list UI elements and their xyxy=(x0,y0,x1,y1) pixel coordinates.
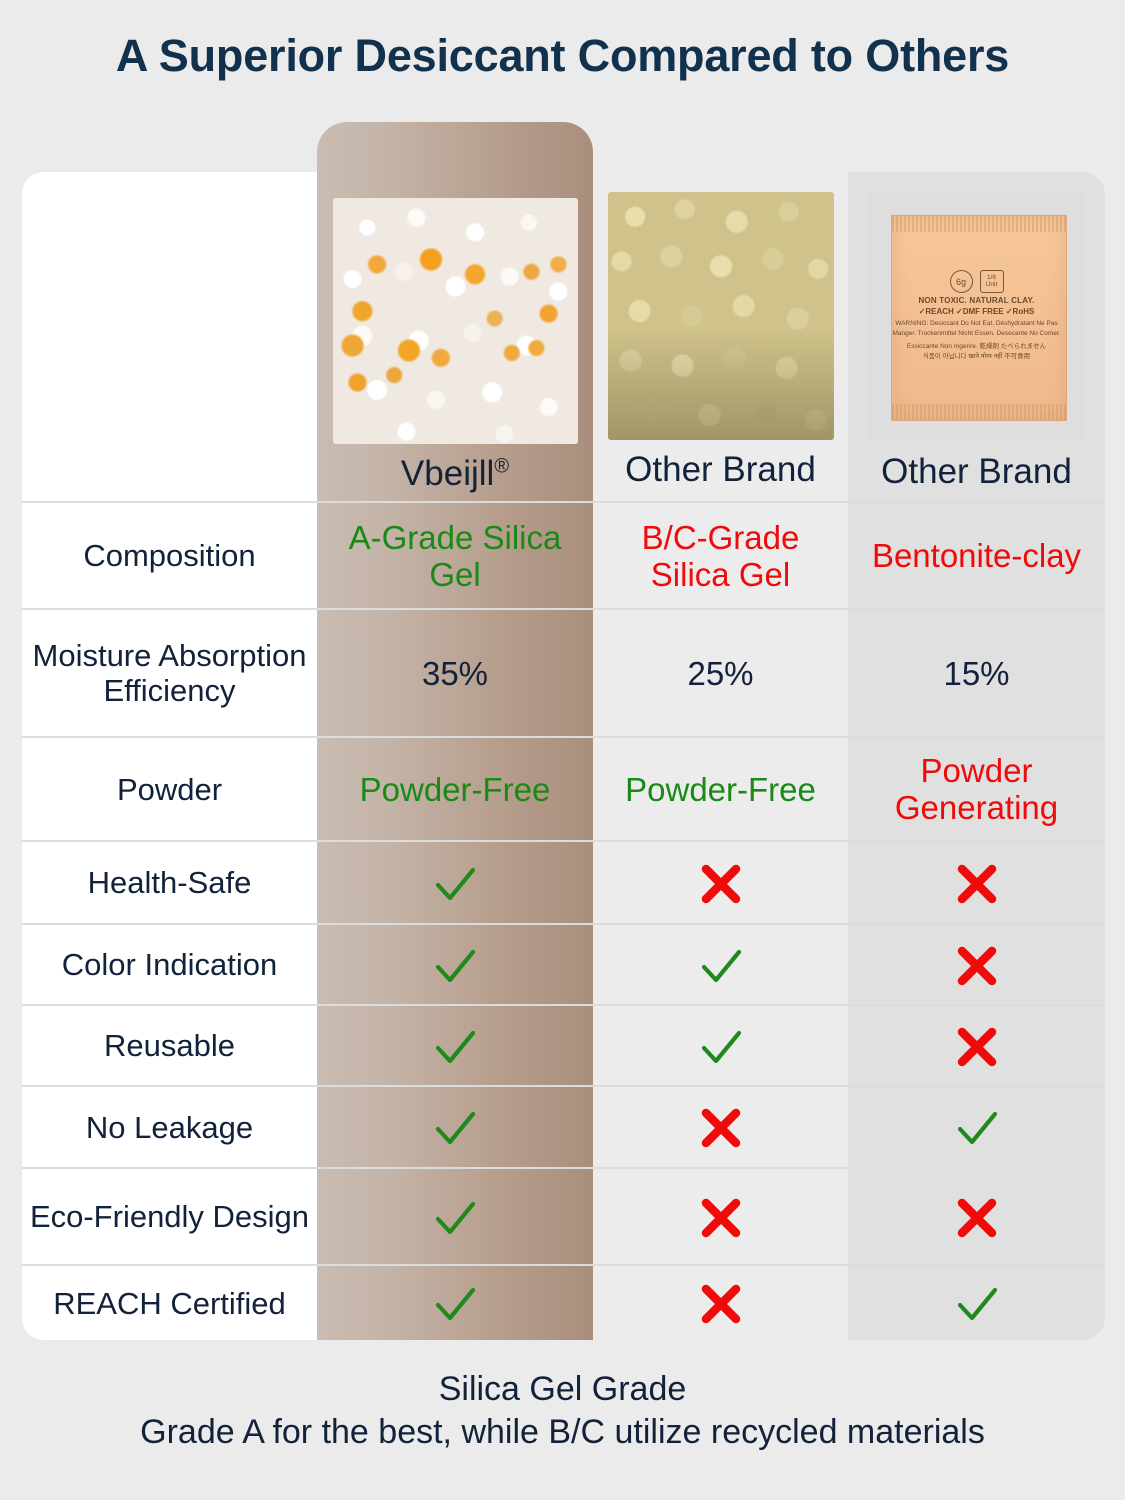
row-label: REACH Certified xyxy=(22,1266,317,1342)
cell-value: B/C-Grade Silica Gel xyxy=(593,503,848,610)
cell-value-text: 25% xyxy=(687,656,753,693)
footer-note: Silica Gel Grade Grade A for the best, w… xyxy=(0,1368,1125,1454)
cell-cross-icon xyxy=(848,842,1105,925)
row-label: Health-Safe xyxy=(22,842,317,925)
cell-value: A-Grade Silica Gel xyxy=(317,503,593,610)
row-label: Composition xyxy=(22,503,317,610)
row-label: Reusable xyxy=(22,1006,317,1087)
cell-value-text: Bentonite-clay xyxy=(872,538,1081,575)
table-body: CompositionA-Grade Silica GelB/C-Grade S… xyxy=(22,172,1105,1340)
cell-value-text: B/C-Grade Silica Gel xyxy=(599,520,842,594)
row-label: Eco-Friendly Design xyxy=(22,1169,317,1266)
row-label: No Leakage xyxy=(22,1087,317,1169)
cell-check-icon xyxy=(593,925,848,1006)
cell-cross-icon xyxy=(593,1087,848,1169)
cell-check-icon xyxy=(317,1006,593,1087)
cell-value-text: A-Grade Silica Gel xyxy=(323,520,587,594)
cell-value-text: Powder-Free xyxy=(625,772,816,809)
cell-check-icon xyxy=(848,1266,1105,1342)
cell-check-icon xyxy=(317,1087,593,1169)
cell-value: Powder Generating xyxy=(848,738,1105,842)
cell-check-icon xyxy=(317,842,593,925)
cell-cross-icon xyxy=(593,1169,848,1266)
row-label: Color Indication xyxy=(22,925,317,1006)
footer-line-1: Silica Gel Grade xyxy=(0,1368,1125,1411)
cell-value-text: Powder-Free xyxy=(360,772,551,809)
cell-check-icon xyxy=(317,1266,593,1342)
cell-check-icon xyxy=(593,1006,848,1087)
cell-value-text: 15% xyxy=(943,656,1009,693)
cell-value-text: Powder Generating xyxy=(854,753,1099,827)
cell-value: 15% xyxy=(848,610,1105,738)
cell-cross-icon xyxy=(848,1006,1105,1087)
cell-cross-icon xyxy=(593,842,848,925)
row-label: Moisture Absorption Efficiency xyxy=(22,610,317,738)
cell-value: 35% xyxy=(317,610,593,738)
cell-value: 25% xyxy=(593,610,848,738)
page-title: A Superior Desiccant Compared to Others xyxy=(0,30,1125,82)
cell-cross-icon xyxy=(848,925,1105,1006)
footer-line-2: Grade A for the best, while B/C utilize … xyxy=(0,1411,1125,1454)
comparison-table: Vbeijll® Other Brand 6g 1/6 Unit NON TOX… xyxy=(22,172,1105,1340)
cell-check-icon xyxy=(317,925,593,1006)
row-label: Powder xyxy=(22,738,317,842)
cell-value: Bentonite-clay xyxy=(848,503,1105,610)
cell-cross-icon xyxy=(848,1169,1105,1266)
cell-value-text: 35% xyxy=(422,656,488,693)
cell-check-icon xyxy=(848,1087,1105,1169)
cell-cross-icon xyxy=(593,1266,848,1342)
cell-check-icon xyxy=(317,1169,593,1266)
cell-value: Powder-Free xyxy=(317,738,593,842)
cell-value: Powder-Free xyxy=(593,738,848,842)
